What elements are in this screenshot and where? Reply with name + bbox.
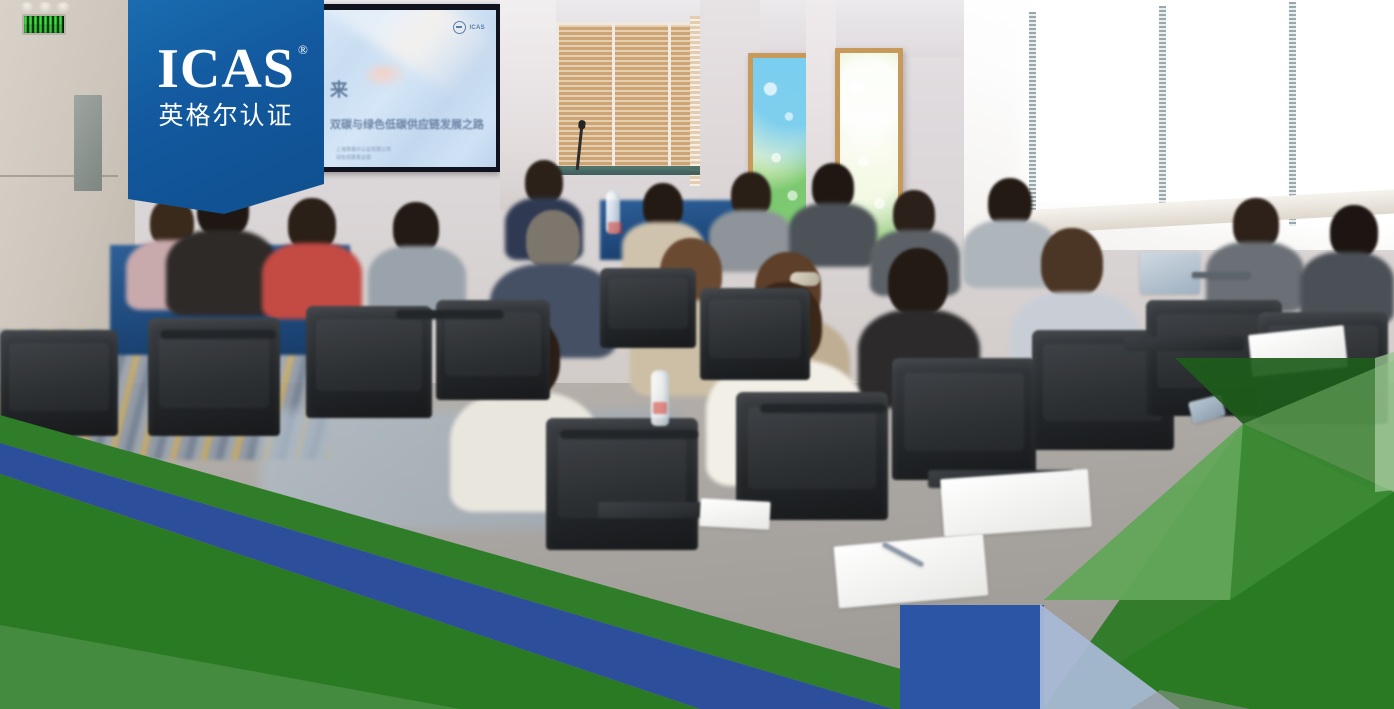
chair-armrest <box>560 430 698 439</box>
window-mullion-3 <box>1289 2 1296 226</box>
water-bottle <box>606 190 620 234</box>
chair <box>600 268 696 348</box>
slide-footnote-line-2: 绿色低碳事业部 <box>336 154 391 162</box>
window-mullion-2 <box>1159 6 1166 214</box>
logo-wordmark-wrap: ICAS ® <box>157 42 295 96</box>
laptop <box>1192 272 1250 278</box>
exit-led-sign <box>22 14 66 35</box>
ceiling-spotlights <box>20 2 80 14</box>
promotional-banner: ICAS 来 双碳与绿色低碳供应链发展之路 上海英格尔认证有限公司 绿色低碳事业… <box>0 0 1394 709</box>
door-panel <box>74 95 102 191</box>
tablet-device <box>1140 252 1200 294</box>
paper-sheet <box>834 534 989 609</box>
registered-trademark-icon: ® <box>298 42 308 58</box>
window-mullion-1 <box>1029 12 1036 212</box>
chair <box>700 288 810 380</box>
daylight-window-2 <box>1166 6 1284 212</box>
daylight-window-1 <box>1036 6 1154 202</box>
paper-sheet <box>699 498 770 530</box>
slide-footnote: 上海英格尔认证有限公司 绿色低碳事业部 <box>336 146 391 162</box>
chair-tablet-arm <box>1124 336 1244 351</box>
slide-subheadline: 双碳与绿色低碳供应链发展之路 <box>330 116 484 132</box>
slide-footnote-line-1: 上海英格尔认证有限公司 <box>336 146 391 154</box>
chair <box>892 358 1036 480</box>
chair-armrest <box>760 404 886 413</box>
projector-screen-surface: ICAS 来 双碳与绿色低碳供应链发展之路 上海英格尔认证有限公司 绿色低碳事业… <box>322 10 496 167</box>
screen-glare-blob <box>366 64 408 88</box>
water-bottle <box>651 370 669 426</box>
slide-logo-wordmark: ICAS <box>469 25 485 31</box>
paper-sheet <box>940 469 1092 537</box>
chair <box>306 306 432 418</box>
slide-headline: 来 <box>330 76 348 102</box>
slide-logo-ring-icon <box>453 21 466 34</box>
chair-armrest <box>396 310 504 319</box>
chair-armrest <box>160 330 276 339</box>
slide-logo: ICAS <box>453 21 485 34</box>
projector-screen: ICAS 来 双碳与绿色低碳供应链发展之路 上海英格尔认证有限公司 绿色低碳事业… <box>318 4 500 172</box>
logo-wordmark: ICAS <box>157 42 295 96</box>
icas-logo-block: ICAS ® 英格尔认证 <box>128 0 324 214</box>
logo-subtitle: 英格尔认证 <box>158 103 293 130</box>
